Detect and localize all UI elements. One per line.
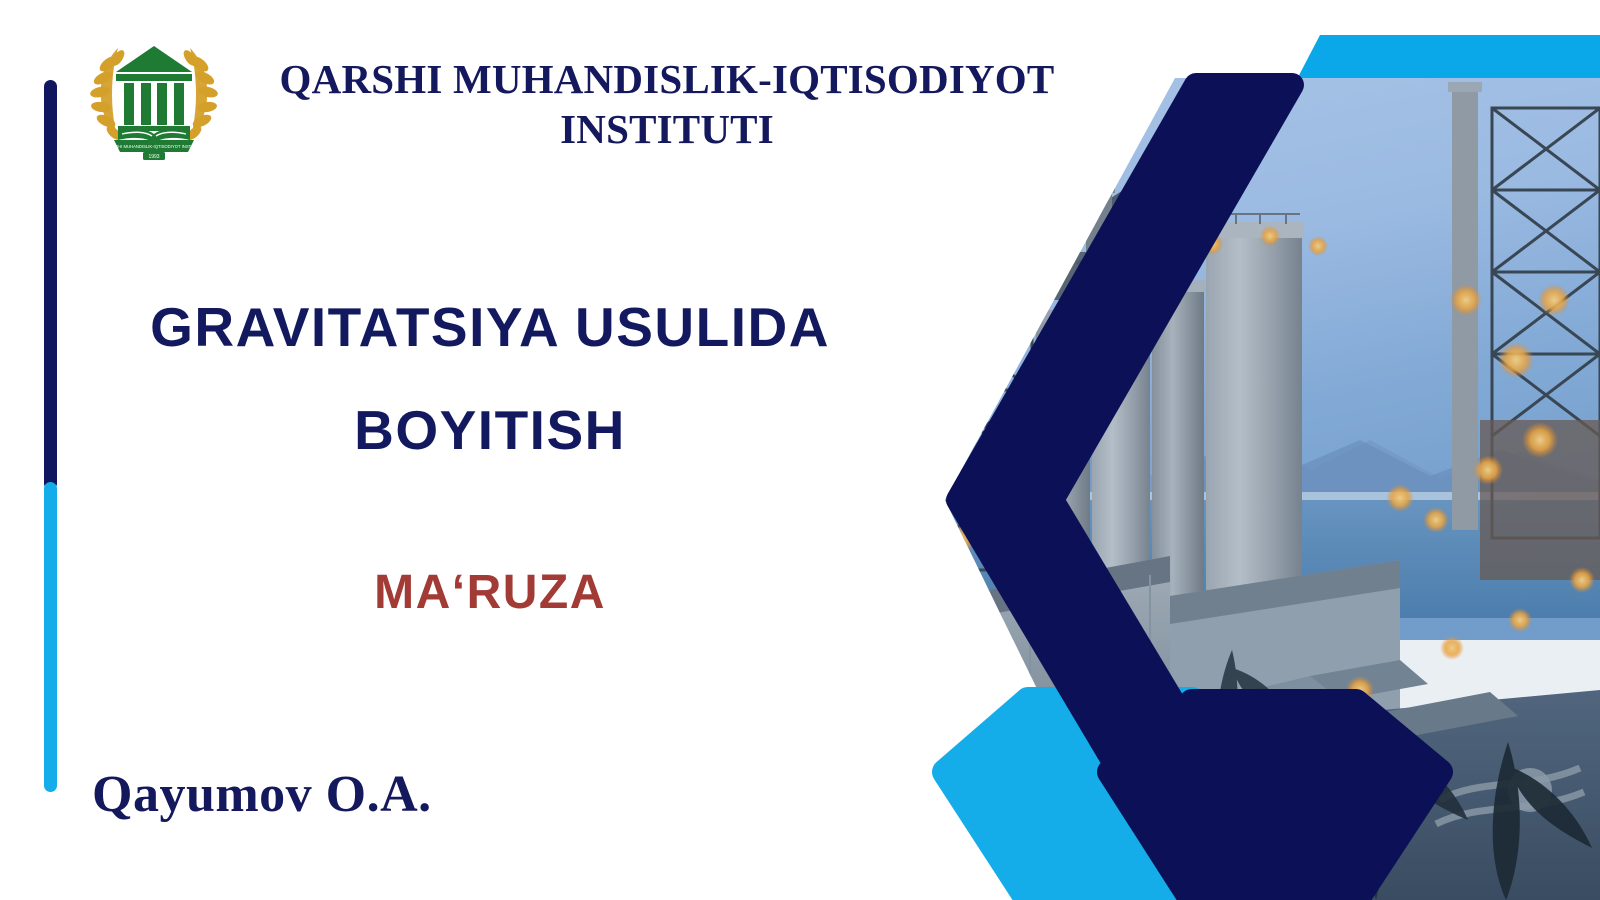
title-line-1: GRAVITATSIYA USULIDA — [90, 300, 890, 355]
slide-title: GRAVITATSIYA USULIDA BOYITISH — [90, 300, 890, 458]
crest-year-text: 1993 — [148, 154, 159, 160]
crest-banner-text: QARSHI MUHANDISLIK-IQTISODIYOT INSTITUTI — [106, 144, 201, 149]
accent-bar-cyan — [44, 482, 57, 792]
classical-building-icon — [116, 46, 192, 131]
institute-name: QARSHI MUHANDISLIK-IQTISODIYOT INSTITUTI — [236, 28, 1098, 154]
presentation-slide: QARSHI MUHANDISLIK-IQTISODIYOT INSTITUTI… — [0, 0, 1600, 900]
title-line-2: BOYITISH — [90, 403, 890, 458]
crest-banner: QARSHI MUHANDISLIK-IQTISODIYOT INSTITUTI — [106, 140, 201, 152]
author-name: Qayumov O.A. — [92, 765, 432, 824]
slide-header: QARSHI MUHANDISLIK-IQTISODIYOT INSTITUTI… — [88, 28, 1098, 160]
slide-subtitle: MA‘RUZA — [90, 565, 890, 620]
crest-year: 1993 — [143, 152, 165, 160]
accent-bar-navy — [44, 80, 57, 490]
institute-crest-icon: QARSHI MUHANDISLIK-IQTISODIYOT INSTITUTI… — [88, 28, 220, 160]
